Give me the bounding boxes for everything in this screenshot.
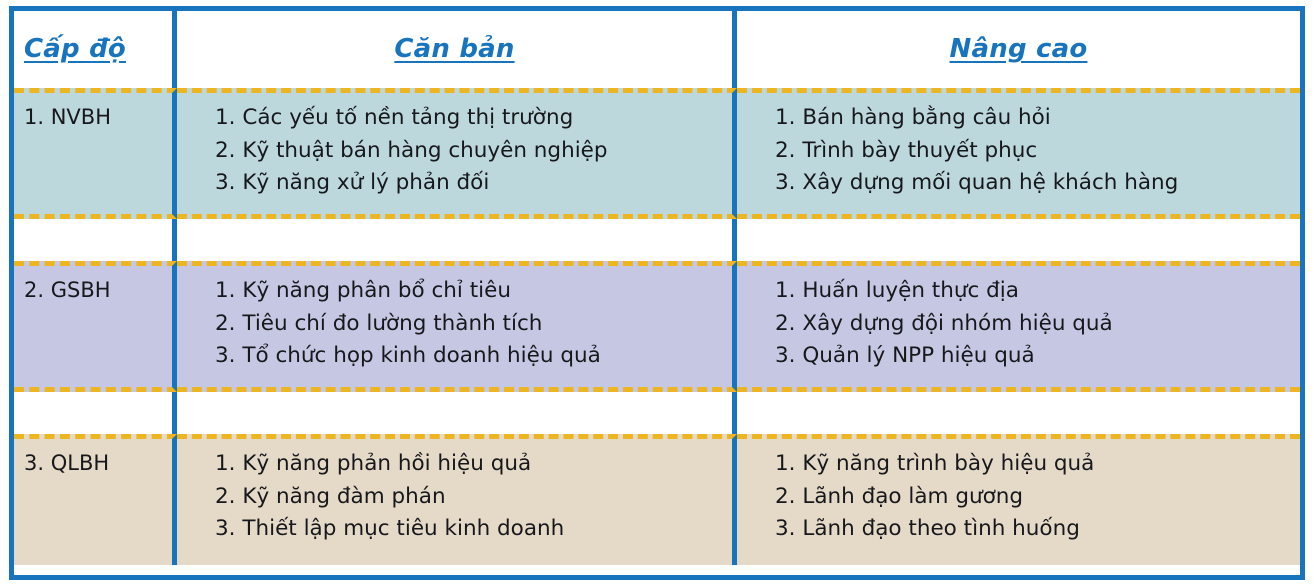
cell-advanced: 1. Kỹ năng trình bày hiệu quả 2. Lãnh đạ… [737,434,1300,565]
list-item: 2. Tiêu chí đo lường thành tích [215,308,732,341]
header-label-advanced: Nâng cao [950,35,1088,64]
training-matrix-table: Cấp độ Căn bản Nâng cao 1. NVBH 1. Các y… [9,6,1305,580]
row-spacer [14,392,1300,434]
list-item: 3. Tổ chức họp kinh doanh hiệu quả [215,340,732,373]
list-item: 1. Kỹ năng phản hồi hiệu quả [215,448,732,481]
spacer-cell-basic [177,392,737,434]
cell-level: 1. NVBH [14,88,177,219]
advanced-course-list: 1. Kỹ năng trình bày hiệu quả 2. Lãnh đạ… [737,446,1300,546]
table-row: 2. GSBH 1. Kỹ năng phân bổ chỉ tiêu 2. T… [14,261,1300,392]
basic-course-list: 1. Các yếu tố nền tảng thị trường 2. Kỹ … [177,100,732,200]
list-item: 1. Các yếu tố nền tảng thị trường [215,102,732,135]
cell-level: 3. QLBH [14,434,177,565]
list-item: 3. Quản lý NPP hiệu quả [775,340,1300,373]
cell-basic: 1. Kỹ năng phản hồi hiệu quả 2. Kỹ năng … [177,434,737,565]
list-item: 2. Kỹ năng đàm phán [215,481,732,514]
list-item: 3. Lãnh đạo theo tình huống [775,513,1300,546]
spacer-cell-advanced [737,392,1300,434]
spacer-cell-basic [177,219,737,261]
spacer-cell-level [14,392,177,434]
list-item: 1. Bán hàng bằng câu hỏi [775,102,1300,135]
list-item: 3. Kỹ năng xử lý phản đối [215,167,732,200]
list-item: 1. Kỹ năng phân bổ chỉ tiêu [215,275,732,308]
table-row: 3. QLBH 1. Kỹ năng phản hồi hiệu quả 2. … [14,434,1300,565]
cell-advanced: 1. Huấn luyện thực địa 2. Xây dựng đội n… [737,261,1300,392]
cell-advanced: 1. Bán hàng bằng câu hỏi 2. Trình bày th… [737,88,1300,219]
advanced-course-list: 1. Bán hàng bằng câu hỏi 2. Trình bày th… [737,100,1300,200]
level-label: 1. NVBH [14,100,172,130]
row-spacer [14,219,1300,261]
table-row: 1. NVBH 1. Các yếu tố nền tảng thị trườn… [14,88,1300,219]
list-item: 2. Xây dựng đội nhóm hiệu quả [775,308,1300,341]
list-item: 1. Kỹ năng trình bày hiệu quả [775,448,1300,481]
header-label-level: Cấp độ [24,35,126,64]
header-label-basic: Căn bản [394,35,514,64]
advanced-course-list: 1. Huấn luyện thực địa 2. Xây dựng đội n… [737,273,1300,373]
list-item: 2. Lãnh đạo làm gương [775,481,1300,514]
spacer-cell-level [14,219,177,261]
header-cell-level: Cấp độ [14,11,177,88]
list-item: 3. Xây dựng mối quan hệ khách hàng [775,167,1300,200]
basic-course-list: 1. Kỹ năng phân bổ chỉ tiêu 2. Tiêu chí … [177,273,732,373]
header-cell-advanced: Nâng cao [737,11,1300,88]
cell-level: 2. GSBH [14,261,177,392]
list-item: 2. Trình bày thuyết phục [775,135,1300,168]
list-item: 2. Kỹ thuật bán hàng chuyên nghiệp [215,135,732,168]
spacer-cell-advanced [737,219,1300,261]
cell-basic: 1. Kỹ năng phân bổ chỉ tiêu 2. Tiêu chí … [177,261,737,392]
list-item: 1. Huấn luyện thực địa [775,275,1300,308]
cell-basic: 1. Các yếu tố nền tảng thị trường 2. Kỹ … [177,88,737,219]
table-header-row: Cấp độ Căn bản Nâng cao [14,11,1300,88]
level-label: 2. GSBH [14,273,172,303]
basic-course-list: 1. Kỹ năng phản hồi hiệu quả 2. Kỹ năng … [177,446,732,546]
slide-canvas: Cấp độ Căn bản Nâng cao 1. NVBH 1. Các y… [0,0,1314,586]
level-label: 3. QLBH [14,446,172,476]
list-item: 3. Thiết lập mục tiêu kinh doanh [215,513,732,546]
header-cell-basic: Căn bản [177,11,737,88]
